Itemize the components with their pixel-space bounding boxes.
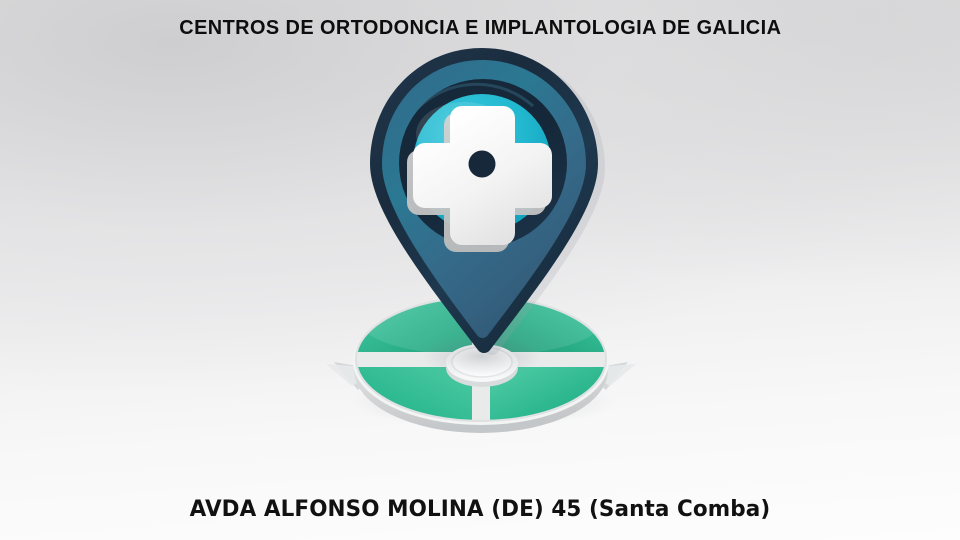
page-title-text: CENTROS DE ORTODONCIA E IMPLANTOLOGIA DE… [179,16,781,40]
location-card: CENTROS DE ORTODONCIA E IMPLANTOLOGIA DE… [0,0,960,540]
cross-center-dot [469,151,496,178]
medical-cross-icon [407,106,552,252]
artwork-container [0,0,960,540]
map-location-pin-illustration [286,34,676,434]
address-caption: AVDA ALFONSO MOLINA (DE) 45 (Santa Comba… [0,484,960,534]
globe-base-icon [326,284,636,434]
page-title: CENTROS DE ORTODONCIA E IMPLANTOLOGIA DE… [0,0,960,56]
map-pin-icon [370,48,605,355]
pin-contact-shadow [422,334,542,378]
address-caption-text: AVDA ALFONSO MOLINA (DE) 45 (Santa Comba… [190,496,771,522]
pin-inner-disc [413,94,551,232]
ground-shadow [351,376,615,428]
